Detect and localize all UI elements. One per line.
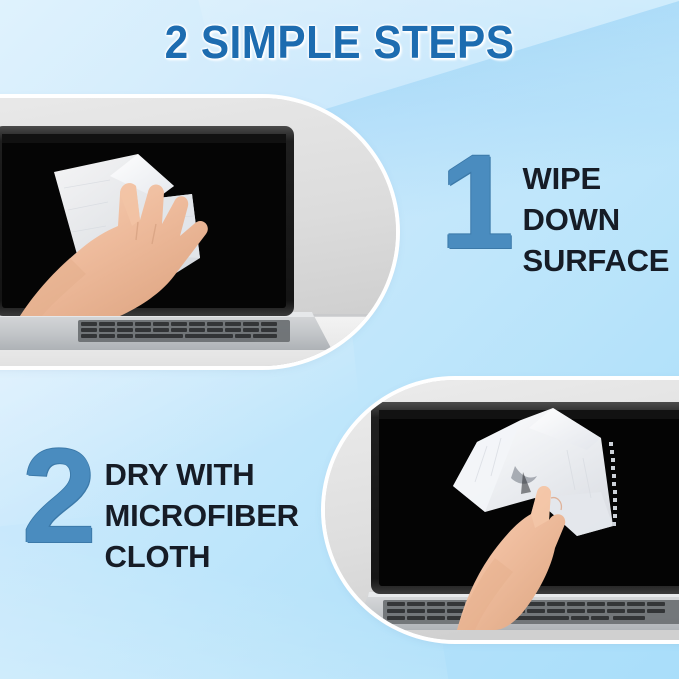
step-2-label: DRY WITH MICROFIBER CLOTH xyxy=(105,454,299,577)
step-1-photo-panel xyxy=(0,98,396,366)
step-1-number: 1 xyxy=(440,144,513,262)
step-2-number: 2 xyxy=(22,438,97,556)
step-2-line-2: MICROFIBER xyxy=(105,495,299,536)
step-1-line-1: WIPE xyxy=(523,158,670,199)
step-1-label: WIPE DOWN SURFACE xyxy=(523,158,670,281)
laptop-microfiber-illustration xyxy=(325,380,679,640)
step-2-line-1: DRY WITH xyxy=(105,454,299,495)
step-2-photo-panel xyxy=(325,380,679,640)
step-1-line-2: DOWN xyxy=(523,199,670,240)
page-title: 2 SIMPLE STEPS xyxy=(27,16,652,68)
step-2-line-3: CLOTH xyxy=(105,536,299,577)
infographic-canvas: 2 SIMPLE STEPS xyxy=(0,0,679,679)
step-2-block: 2 DRY WITH MICROFIBER CLOTH xyxy=(22,444,299,577)
step-1-block: 1 WIPE DOWN SURFACE xyxy=(440,150,669,281)
step-1-line-3: SURFACE xyxy=(523,240,670,281)
laptop-wipe-illustration xyxy=(0,98,396,366)
